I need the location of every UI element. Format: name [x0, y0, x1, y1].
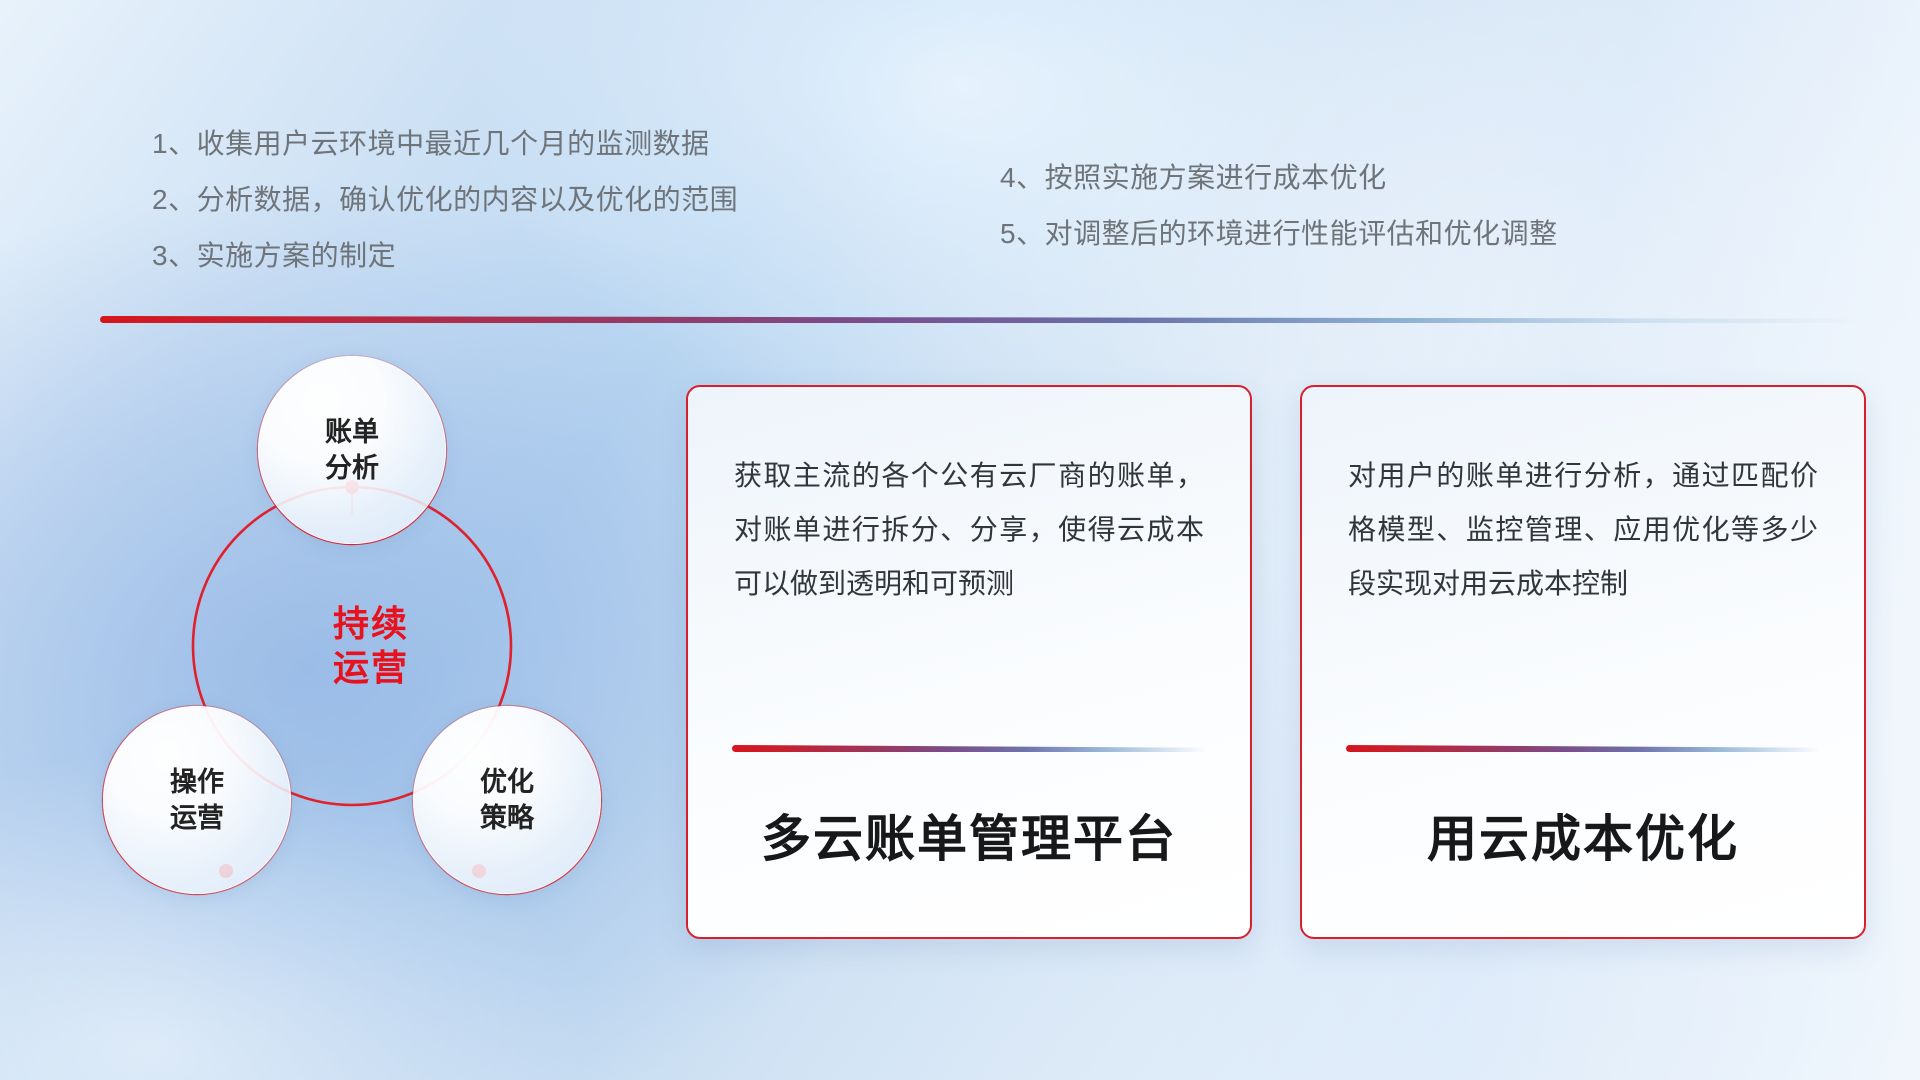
info-card-multi-cloud-billing-platform[interactable]: 获取主流的各个公有云厂商的账单，对账单进行拆分、分享，使得云成本可以做到透明和可… — [686, 385, 1252, 939]
info-card-cloud-cost-optimization[interactable]: 对用户的账单进行分析，通过匹配价格模型、监控管理、应用优化等多少段实现对用云成本… — [1300, 385, 1866, 939]
card-divider-line — [1346, 745, 1820, 752]
venn-bubble-optimization-strategy[interactable]: 优化 策略 — [413, 706, 601, 894]
card-title: 多云账单管理平台 — [688, 799, 1250, 871]
step-item: 5、对调整后的环境进行性能评估和优化调整 — [1000, 220, 1558, 248]
steps-list-left: 1、收集用户云环境中最近几个月的监测数据 2、分析数据，确认优化的内容以及优化的… — [152, 130, 738, 270]
center-label-line1: 持续 — [333, 602, 409, 646]
bubble-label-line2: 策略 — [480, 800, 534, 836]
step-item: 3、实施方案的制定 — [152, 242, 738, 270]
bubble-label-line1: 操作 — [170, 764, 224, 800]
bubble-label-line1: 账单 — [325, 414, 379, 450]
venn-bubble-operations[interactable]: 操作 运营 — [103, 706, 291, 894]
bubble-label-line2: 运营 — [170, 800, 224, 836]
step-item: 4、按照实施方案进行成本优化 — [1000, 164, 1558, 192]
step-item: 2、分析数据，确认优化的内容以及优化的范围 — [152, 186, 738, 214]
card-title: 用云成本优化 — [1302, 799, 1864, 871]
step-item: 1、收集用户云环境中最近几个月的监测数据 — [152, 130, 738, 158]
venn-diagram: 账单 分析 操作 运营 优化 策略 持续 运营 — [95, 348, 655, 948]
steps-list-right: 4、按照实施方案进行成本优化 5、对调整后的环境进行性能评估和优化调整 — [1000, 164, 1558, 248]
card-body-text: 对用户的账单进行分析，通过匹配价格模型、监控管理、应用优化等多少段实现对用云成本… — [1302, 387, 1864, 610]
bubble-label-line2: 分析 — [325, 450, 379, 486]
bubble-label-line1: 优化 — [480, 764, 534, 800]
card-divider-line — [732, 745, 1206, 752]
venn-center-label: 持续 运营 — [291, 566, 451, 726]
venn-bubble-billing-analysis[interactable]: 账单 分析 — [258, 356, 446, 544]
card-body-text: 获取主流的各个公有云厂商的账单，对账单进行拆分、分享，使得云成本可以做到透明和可… — [688, 387, 1250, 610]
center-label-line2: 运营 — [333, 646, 409, 690]
